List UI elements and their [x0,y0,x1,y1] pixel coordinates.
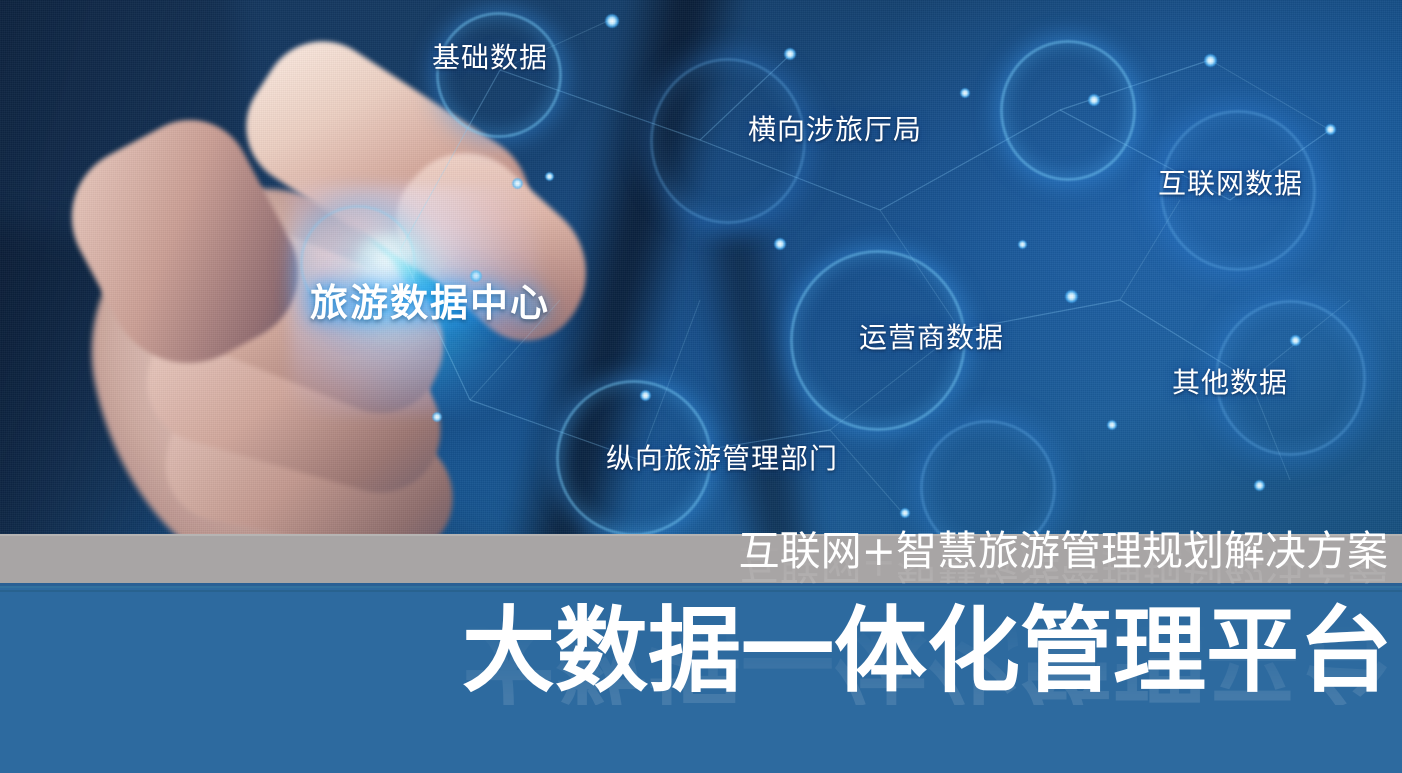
graph-node [1254,480,1265,491]
graph-node [1088,94,1100,106]
graph-node [1065,290,1078,303]
slide-canvas: 基础数据 横向涉旅厅局 互联网数据 运营商数据 其他数据 纵向旅游管理部门 旅游… [0,0,1402,773]
label-operator-data: 运营商数据 [859,316,1004,356]
label-other-data: 其他数据 [1172,361,1288,401]
graph-node [545,172,554,181]
graph-node [1290,335,1301,346]
glow-ring-3 [1000,40,1136,181]
graph-node [1018,240,1027,249]
graph-node [1204,54,1217,67]
graph-node [1325,124,1336,135]
graph-node [960,88,970,98]
label-basic-data: 基础数据 [432,36,548,76]
title-band-edge-2 [0,586,1402,588]
label-horizontal-bureaus: 横向涉旅厅局 [748,108,922,148]
graph-node [784,48,796,60]
hero-photo: 基础数据 横向涉旅厅局 互联网数据 运营商数据 其他数据 纵向旅游管理部门 旅游… [0,0,1402,534]
graph-node [774,238,786,250]
label-tourism-data-center: 旅游数据中心 [310,272,550,327]
graph-node [1107,420,1117,430]
subtitle-text: 互联网+智慧旅游管理规划解决方案 [739,531,1388,572]
graph-node [900,508,910,518]
label-internet-data: 互联网数据 [1158,162,1303,202]
label-vertical-departments: 纵向旅游管理部门 [606,437,838,477]
graph-node [640,390,651,401]
graph-node [605,14,619,28]
title-text: 大数据一体化管理平台 [462,605,1392,698]
title-band-edge-3 [0,590,1402,592]
